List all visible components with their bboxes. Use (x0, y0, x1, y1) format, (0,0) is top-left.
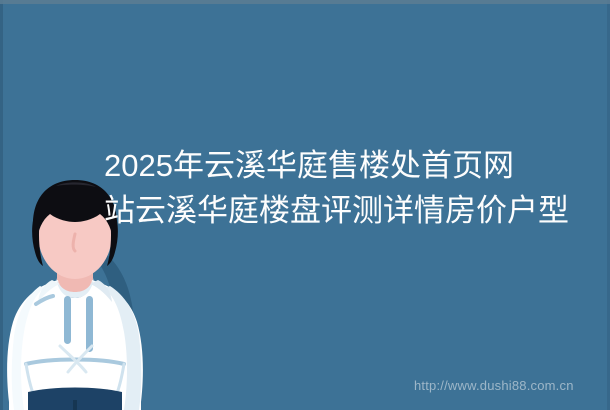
headline: 2025年云溪华庭售楼处首页网 站云溪华庭楼盘评测详情房价户型 (104, 143, 596, 233)
watermark-url: http://www.dushi88.com.cn (414, 378, 574, 394)
headline-line-1: 2025年云溪华庭售楼处首页网 (104, 143, 596, 188)
top-edge-strip (0, 0, 610, 4)
promo-banner: 2025年云溪华庭售楼处首页网 站云溪华庭楼盘评测详情房价户型 http://w… (0, 0, 610, 410)
headline-line-2: 站云溪华庭楼盘评测详情房价户型 (104, 188, 596, 233)
